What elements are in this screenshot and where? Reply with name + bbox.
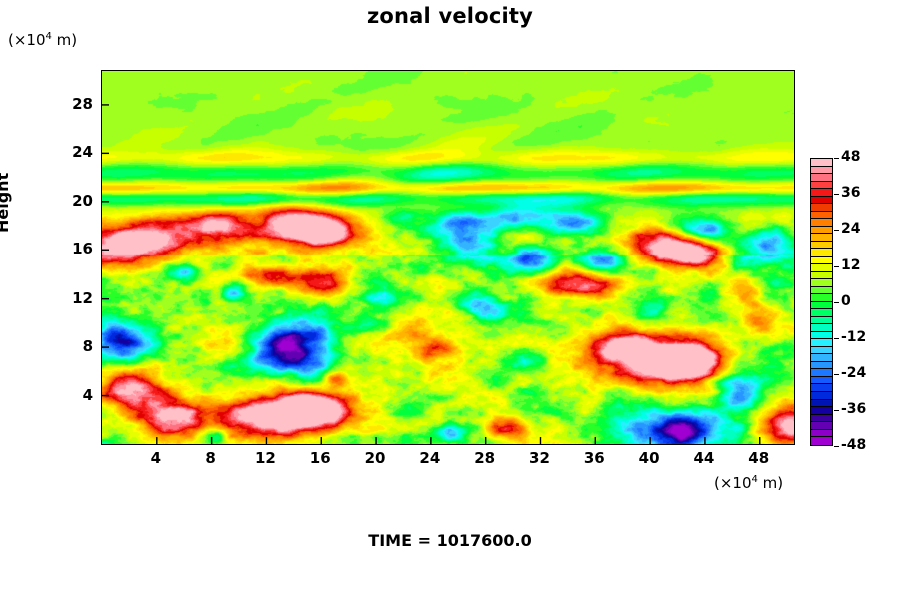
x-axis-tick-label: 20 [355,449,395,467]
colorbar-tick-label: 48 [841,149,860,165]
colorbar-tick [834,302,839,303]
colorbar-tick-label: -48 [841,437,866,453]
colorbar-segment [811,279,832,287]
x-axis-tick-label: 36 [574,449,614,467]
colorbar-segment [811,212,832,220]
colorbar-segment [811,354,832,362]
colorbar-segment [811,287,832,295]
colorbar-segment [811,415,832,423]
y-axis-tick-label: 4 [47,386,93,404]
colorbar-segment [811,159,832,167]
x-axis-tick-label: 8 [191,449,231,467]
colorbar-segment [811,362,832,370]
colorbar-segment [811,227,832,235]
colorbar-tick-label: -12 [841,329,866,345]
colorbar-tick-label: 24 [841,221,860,237]
colorbar-tick [834,194,839,195]
colorbar-tick-label: 36 [841,185,860,201]
colorbar-segment [811,437,832,445]
colorbar-tick [834,338,839,339]
x-axis-tick-label: 24 [410,449,450,467]
y-axis-unit-label: (×104 m) [8,31,77,49]
colorbar-tick-label: -36 [841,401,866,417]
colorbar-segment [811,272,832,280]
y-axis-unit-suffix: m) [52,31,77,49]
x-axis-unit-label: (×104 m) [714,474,783,492]
x-axis-unit-prefix: (×10 [714,474,752,492]
x-axis-tick-label: 44 [684,449,724,467]
colorbar-segment [811,182,832,190]
colorbar-segment [811,294,832,302]
y-axis-tick-label: 28 [47,95,93,113]
colorbar-segment [811,174,832,182]
colorbar-segment [811,302,832,310]
zonal-velocity-figure: zonal velocity (×104 m) (×104 m) Height … [0,0,900,600]
colorbar[interactable] [810,158,833,446]
contour-plot-area [101,70,795,445]
y-axis-tick-label: 16 [47,240,93,258]
colorbar-segment [811,204,832,212]
colorbar-segment [811,422,832,430]
x-axis-tick-label: 32 [519,449,559,467]
y-axis-tick-label: 8 [47,337,93,355]
colorbar-tick [834,374,839,375]
colorbar-segment [811,324,832,332]
colorbar-tick-label: 0 [841,293,851,309]
colorbar-tick [834,266,839,267]
colorbar-segment [811,309,832,317]
colorbar-segment [811,197,832,205]
x-axis-tick-label: 16 [300,449,340,467]
colorbar-segment [811,264,832,272]
colorbar-segment [811,407,832,415]
x-axis-tick-label: 4 [136,449,176,467]
y-axis-title: Height [0,173,12,233]
colorbar-tick [834,410,839,411]
y-axis-tick-label: 24 [47,143,93,161]
colorbar-segment [811,347,832,355]
colorbar-segment [811,257,832,265]
colorbar-tick [834,158,839,159]
colorbar-segment [811,430,832,438]
colorbar-tick-label: -24 [841,365,866,381]
x-axis-tick-label: 48 [739,449,779,467]
colorbar-tick [834,446,839,447]
colorbar-segment [811,332,832,340]
colorbar-segment [811,242,832,250]
page-title: zonal velocity [0,4,900,28]
x-axis-unit-suffix: m) [758,474,783,492]
x-axis-tick-label: 12 [245,449,285,467]
y-axis-unit-prefix: (×10 [8,31,46,49]
y-axis-tick-label: 12 [47,289,93,307]
colorbar-segment [811,377,832,385]
colorbar-segment [811,400,832,408]
x-axis-tick-label: 40 [629,449,669,467]
colorbar-segment [811,369,832,377]
y-axis-tick-label: 20 [47,192,93,210]
colorbar-segment [811,189,832,197]
colorbar-segment [811,219,832,227]
x-axis-tick-label: 28 [465,449,505,467]
colorbar-segment [811,249,832,257]
colorbar-segment [811,392,832,400]
colorbar-tick [834,230,839,231]
colorbar-segment [811,384,832,392]
time-annotation: TIME = 1017600.0 [0,531,900,550]
axis-tick-layer [102,71,794,444]
colorbar-segment [811,339,832,347]
colorbar-segment [811,167,832,175]
colorbar-segment [811,317,832,325]
colorbar-segment [811,234,832,242]
colorbar-tick-label: 12 [841,257,860,273]
